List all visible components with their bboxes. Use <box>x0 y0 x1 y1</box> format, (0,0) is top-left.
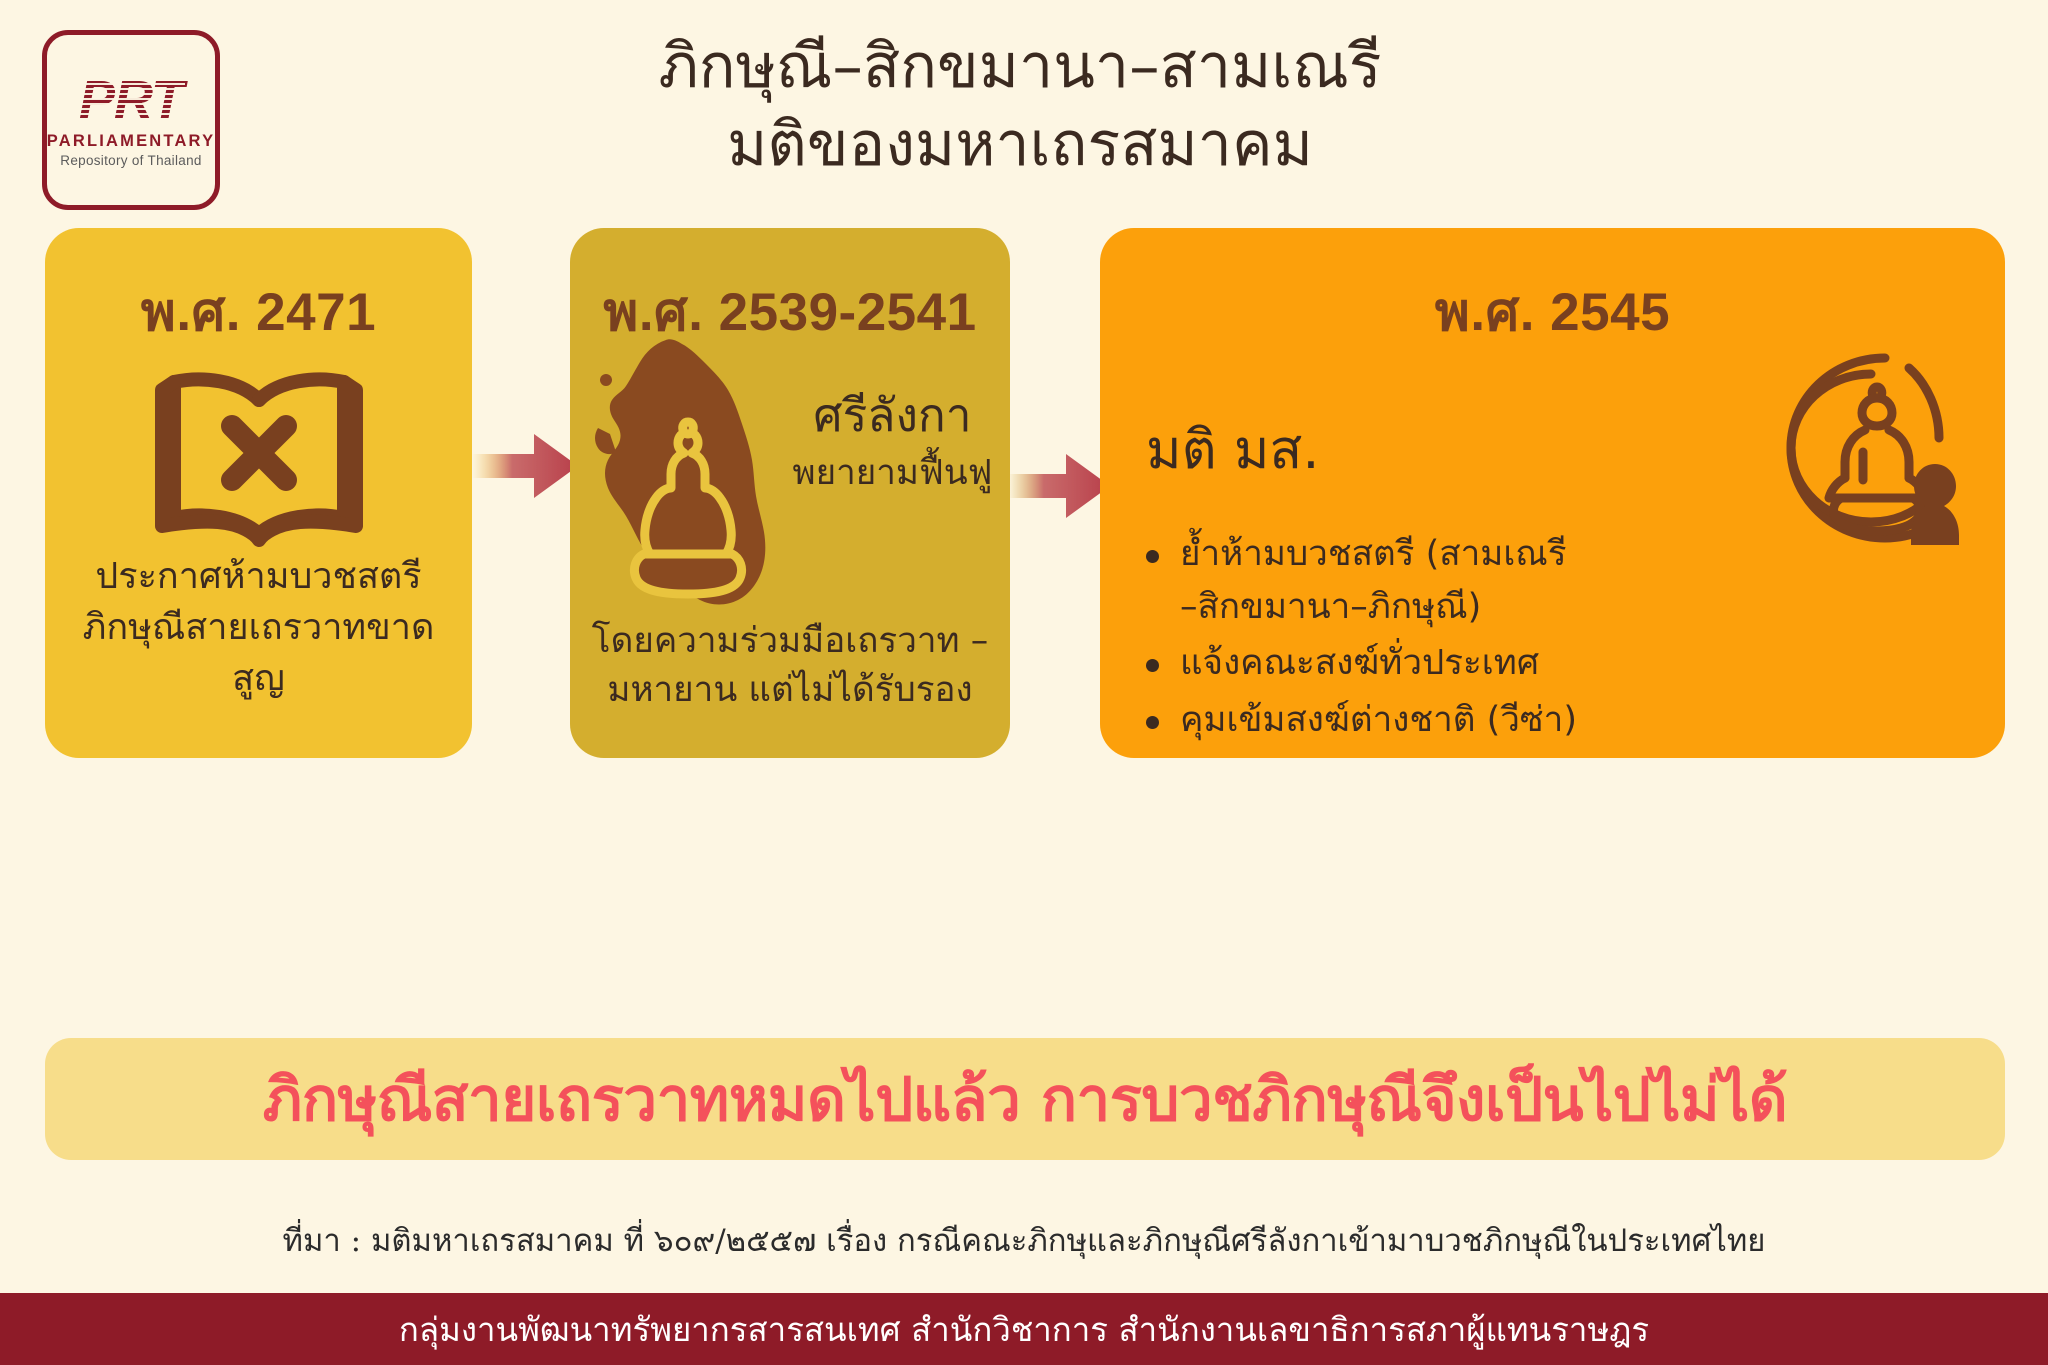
moti-mo-so-label: มติ มส. <box>1146 406 1320 492</box>
sri-lanka-map-buddha-icon <box>588 336 788 606</box>
highlight-banner-text: ภิกษุณีสายเถรวาทหมดไปแล้ว การบวชภิกษุณีจ… <box>263 1052 1787 1147</box>
arrow-right-icon-1 <box>472 428 580 509</box>
footer-bar: กลุ่มงานพัฒนาทรัพยากรสารสนเทศ สำนักวิชาก… <box>0 1293 2048 1365</box>
prt-logo: PRT PARLIAMENTARY Repository of Thailand <box>42 30 220 210</box>
sri-lanka-label-line-1: ศรีลังกา <box>785 388 1000 443</box>
footer-text: กลุ่มงานพัฒนาทรัพยากรสารสนเทศ สำนักวิชาก… <box>399 1303 1649 1356</box>
card-2545-bullet-list: ย้ำห้ามบวชสตรี (สามเณรี–สิกขมานา–ภิกษุณี… <box>1136 528 1979 750</box>
timeline-card-2539-2541: พ.ศ. 2539-2541 ศรีลังกา พยายามฟื้นฟู <box>570 228 1010 758</box>
card-body-2471-line-1: ประกาศห้ามบวชสตรี <box>59 551 458 602</box>
bullet-text-1: ย้ำห้ามบวชสตรี (สามเณรี–สิกขมานา–ภิกษุณี… <box>1180 534 1567 627</box>
logo-line-repository: Repository of Thailand <box>60 153 201 168</box>
sri-lanka-label-line-2: พยายามฟื้นฟู <box>785 451 1000 497</box>
logo-line-parliamentary: PARLIAMENTARY <box>47 132 216 151</box>
infographic-canvas: PRT PARLIAMENTARY Repository of Thailand… <box>0 0 2048 1365</box>
highlight-banner: ภิกษุณีสายเถรวาทหมดไปแล้ว การบวชภิกษุณีจ… <box>45 1038 2005 1160</box>
page-title-line-1: ภิกษุณี–สิกขมานา–สามเณรี <box>270 28 1770 106</box>
card-body-2539-2541: โดยความร่วมมือเถรวาท – มหายาน แต่ไม่ได้ร… <box>584 617 996 716</box>
source-citation: ที่มา : มติมหาเถรสมาคม ที่ ๖๐๙/๒๕๕๗ เรื่… <box>0 1215 2048 1265</box>
bullet-text-3: คุมเข้มสงฆ์ต่างชาติ (วีซ่า) <box>1180 700 1577 740</box>
card-body-2471: ประกาศห้ามบวชสตรี ภิกษุณีสายเถรวาทขาดสูญ <box>59 551 458 704</box>
card-year-2471: พ.ศ. 2471 <box>45 270 472 354</box>
list-item: ย้ำห้ามบวชสตรี (สามเณรี–สิกขมานา–ภิกษุณี… <box>1136 528 1979 633</box>
open-book-with-x-icon <box>154 368 364 558</box>
timeline-cards: พ.ศ. 2471 ประกาศห้ามบวชสตรี ภิกษุณีส <box>0 228 2048 758</box>
arrow-right-icon-2 <box>1008 448 1112 529</box>
card-body-2471-line-2: ภิกษุณีสายเถรวาทขาดสูญ <box>59 602 458 704</box>
list-item: คุมเข้มสงฆ์ต่างชาติ (วีซ่า) <box>1136 694 1979 747</box>
list-item: แจ้งคณะสงฆ์ทั่วประเทศ <box>1136 637 1979 690</box>
bullet-text-2: แจ้งคณะสงฆ์ทั่วประเทศ <box>1180 643 1539 683</box>
logo-wordmark: PRT <box>79 73 183 127</box>
timeline-card-2471: พ.ศ. 2471 ประกาศห้ามบวชสตรี ภิกษุณีส <box>45 228 472 758</box>
card-body-2539-line-2: มหายาน แต่ไม่ได้รับรอง <box>584 666 996 716</box>
sri-lanka-label: ศรีลังกา พยายามฟื้นฟู <box>785 388 1000 497</box>
page-title-line-2: มติของมหาเถรสมาคม <box>270 106 1770 184</box>
card-body-2539-line-1: โดยความร่วมมือเถรวาท – <box>584 617 996 667</box>
timeline-card-2545: พ.ศ. 2545 มติ มส. <box>1100 228 2005 758</box>
page-title: ภิกษุณี–สิกขมานา–สามเณรี มติของมหาเถรสมา… <box>270 28 1770 184</box>
